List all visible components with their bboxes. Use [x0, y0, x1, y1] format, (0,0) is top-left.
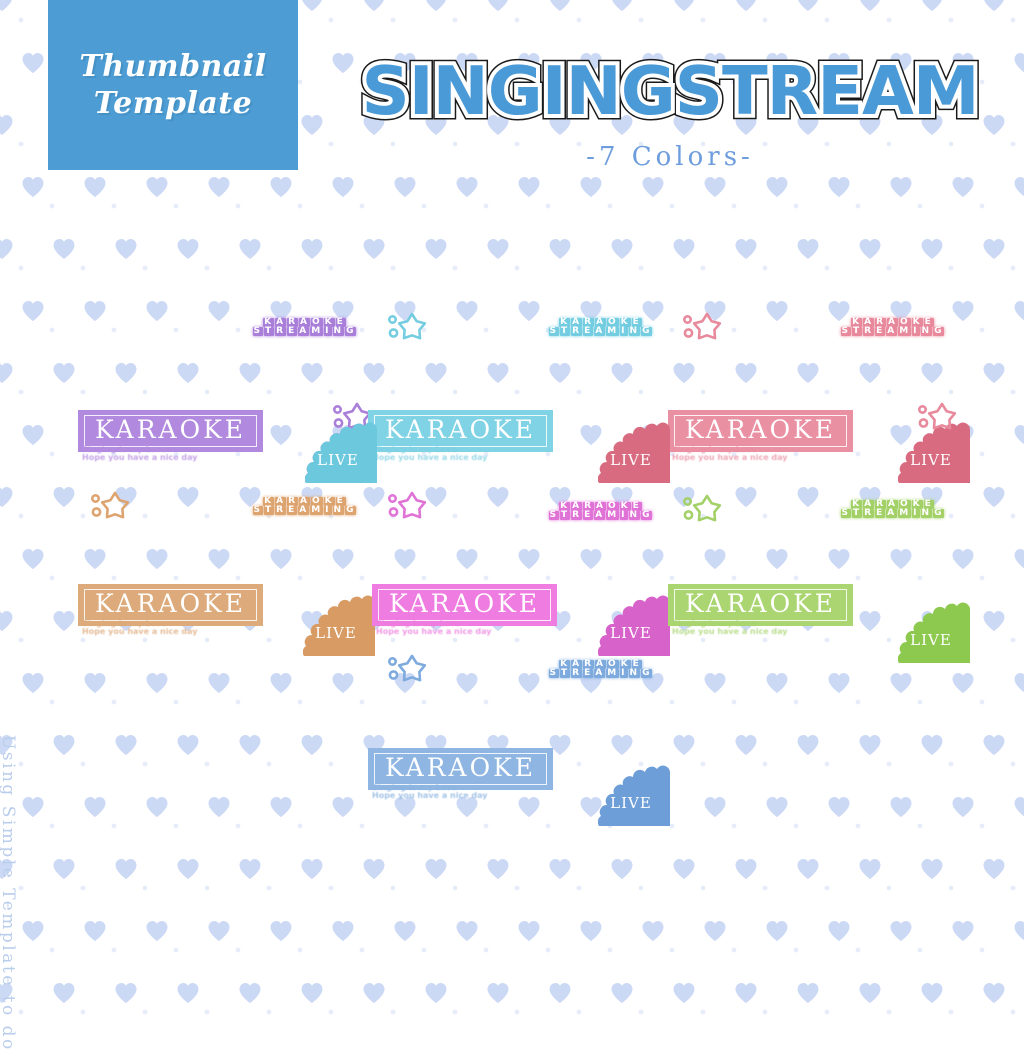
thumbnail-template-banner: Thumbnail Template: [48, 0, 298, 170]
karaoke-banner-inner: KARAOKE: [374, 415, 547, 447]
karaoke-label: KARAOKE: [385, 755, 536, 781]
streaming-decoration: KARAOKESTREAMING: [548, 318, 653, 336]
streaming-decoration-bottom: STREAMING: [548, 669, 653, 678]
side-note: Using Simple Template to do Gaming Strea…: [0, 735, 18, 1052]
star-decoration: [680, 308, 724, 348]
live-label: LIVE: [898, 451, 964, 469]
live-label: LIVE: [598, 794, 664, 812]
karaoke-label: KARAOKE: [389, 591, 540, 617]
star-decoration: [680, 490, 724, 530]
karaoke-label: KARAOKE: [95, 591, 246, 617]
karaoke-subtext: Singing is my LoveHope you have a nice d…: [672, 446, 788, 462]
live-label: LIVE: [303, 624, 369, 642]
live-label: LIVE: [598, 451, 664, 469]
karaoke-subtext: Singing is my LoveHope you have a nice d…: [376, 620, 492, 636]
karaoke-subtext-line-2: Hope you have a nice day: [82, 454, 198, 462]
live-badge[interactable]: LIVE: [598, 415, 670, 483]
karaoke-subtext-line-2: Hope you have a nice day: [376, 628, 492, 636]
karaoke-subtext: Singing is my LoveHope you have a nice d…: [82, 446, 198, 462]
streaming-decoration: KARAOKESTREAMING: [840, 500, 945, 518]
karaoke-subtext-line-2: Hope you have a nice day: [672, 628, 788, 636]
live-label: LIVE: [305, 451, 371, 469]
page-title-group: SINGINGSTREAM SINGINGSTREAM -7 Colors-: [360, 52, 980, 172]
streaming-decoration-bottom: STREAMING: [548, 327, 653, 336]
live-badge[interactable]: LIVE: [598, 588, 670, 656]
karaoke-subtext: Singing is my LoveHope you have a nice d…: [372, 446, 488, 462]
karaoke-banner-inner: KARAOKE: [84, 415, 257, 447]
karaoke-subtext: Singing is my LoveHope you have a nice d…: [82, 620, 198, 636]
live-badge[interactable]: LIVE: [305, 415, 377, 483]
karaoke-label: KARAOKE: [685, 417, 836, 443]
karaoke-banner-inner: KARAOKE: [84, 589, 257, 621]
page-subtitle: -7 Colors-: [360, 142, 980, 172]
star-decoration: [385, 650, 429, 690]
karaoke-subtext-line-2: Hope you have a nice day: [82, 628, 198, 636]
karaoke-banner-inner: KARAOKE: [378, 589, 551, 621]
side-note-line-1: Using Simple Template to do: [0, 735, 18, 1052]
thumbnail-banner-line-1: Thumbnail: [79, 51, 266, 83]
streaming-decoration-bottom: STREAMING: [840, 509, 945, 518]
karaoke-label: KARAOKE: [685, 591, 836, 617]
streaming-decoration-bottom: STREAMING: [840, 327, 945, 336]
karaoke-subtext: Singing is my LoveHope you have a nice d…: [672, 620, 788, 636]
karaoke-subtext-line-2: Hope you have a nice day: [372, 454, 488, 462]
streaming-decoration-bottom: STREAMING: [252, 327, 357, 336]
karaoke-subtext-line-2: Hope you have a nice day: [372, 792, 488, 800]
star-decoration: [88, 487, 132, 527]
karaoke-label: KARAOKE: [95, 417, 246, 443]
streaming-decoration-bottom: STREAMING: [548, 511, 653, 520]
live-label: LIVE: [598, 624, 664, 642]
live-label: LIVE: [898, 631, 964, 649]
live-badge[interactable]: LIVE: [598, 758, 670, 826]
thumbnail-banner-line-2: Template: [94, 88, 252, 120]
star-decoration: [385, 308, 429, 348]
live-badge[interactable]: LIVE: [303, 588, 375, 656]
karaoke-banner-inner: KARAOKE: [674, 415, 847, 447]
streaming-decoration: KARAOKESTREAMING: [252, 497, 357, 515]
karaoke-banner-inner: KARAOKE: [674, 589, 847, 621]
karaoke-label: KARAOKE: [385, 417, 536, 443]
page-title: SINGINGSTREAM: [360, 52, 980, 130]
streaming-decoration-bottom: STREAMING: [252, 506, 357, 515]
streaming-decoration: KARAOKESTREAMING: [840, 318, 945, 336]
karaoke-banner-inner: KARAOKE: [374, 753, 547, 785]
karaoke-subtext: Singing is my LoveHope you have a nice d…: [372, 784, 488, 800]
star-decoration: [915, 398, 959, 438]
streaming-decoration: KARAOKESTREAMING: [548, 660, 653, 678]
streaming-decoration: KARAOKESTREAMING: [252, 318, 357, 336]
karaoke-subtext-line-2: Hope you have a nice day: [672, 454, 788, 462]
star-decoration: [385, 487, 429, 527]
streaming-decoration: KARAOKESTREAMING: [548, 502, 653, 520]
live-badge[interactable]: LIVE: [898, 595, 970, 663]
